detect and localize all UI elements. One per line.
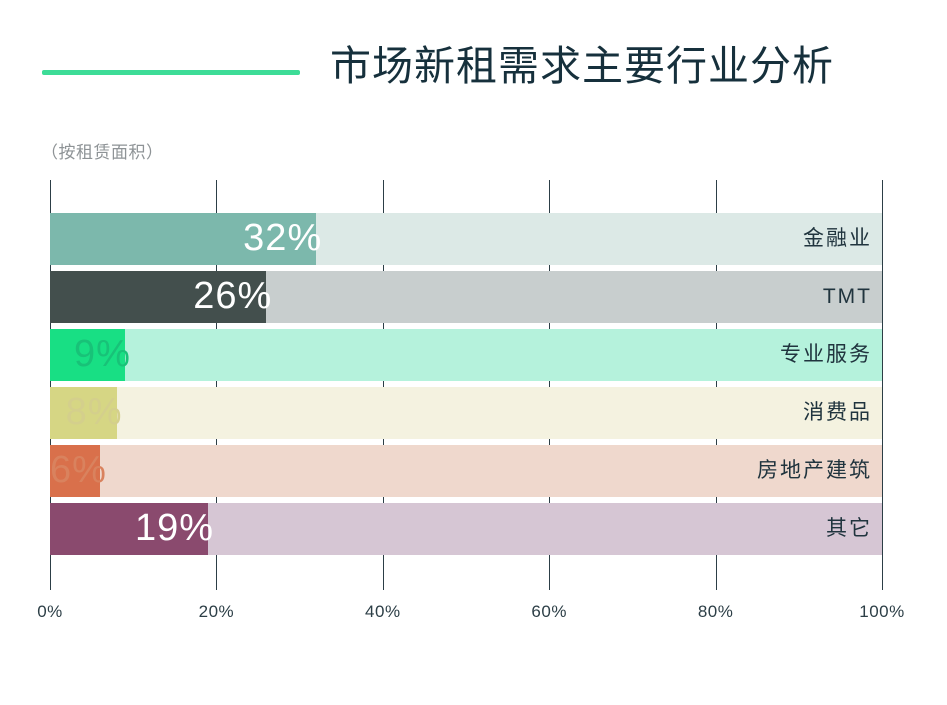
bar-row[interactable]: 19%其它 [50,503,882,555]
bar-row[interactable]: 6%房地产建筑 [50,445,882,497]
axis-tick-label: 80% [698,602,734,622]
bar-row[interactable]: 32%金融业 [50,213,882,265]
bar-value-label: 26% [50,271,272,323]
bar-row[interactable]: 26%TMT [50,271,882,323]
axis-tick-mark [50,576,51,590]
bar-category-label: 其它 [826,503,872,555]
axis-tick-mark [383,576,384,590]
bar-track [50,387,882,439]
bar-category-label: 专业服务 [780,329,872,381]
bar-value-label: 32% [50,213,322,265]
chart-header: 市场新租需求主要行业分析 （按租赁面积） [0,0,947,120]
bar-row[interactable]: 8%消费品 [50,387,882,439]
chart-subtitle: （按租赁面积） [41,138,164,163]
axis-tick-label: 0% [37,602,63,622]
page-title: 市场新租需求主要行业分析 [330,40,834,92]
bar-value-label: 19% [50,503,214,555]
gridline-100pct [882,180,883,576]
bar-value-label: 8% [50,387,123,439]
bar-rows: 32%金融业26%TMT9%专业服务8%消费品6%房地产建筑19%其它 [50,180,882,576]
axis-tick-mark [216,576,217,590]
x-axis: 0%20%40%60%80%100% [0,576,947,636]
axis-tick-mark [716,576,717,590]
title-accent-rule [42,70,300,75]
axis-tick-label: 60% [531,602,567,622]
axis-tick-mark [882,576,883,590]
bar-category-label: 消费品 [803,387,872,439]
bar-category-label: 房地产建筑 [757,445,872,497]
bar-value-label: 6% [50,445,106,497]
axis-tick-label: 20% [199,602,235,622]
bar-value-label: 9% [50,329,131,381]
bar-row[interactable]: 9%专业服务 [50,329,882,381]
axis-tick-mark [549,576,550,590]
bar-category-label: TMT [823,271,872,323]
bar-track [50,329,882,381]
chart-plot-area: 32%金融业26%TMT9%专业服务8%消费品6%房地产建筑19%其它 [50,180,882,576]
bar-category-label: 金融业 [803,213,872,265]
axis-tick-label: 40% [365,602,401,622]
axis-tick-label: 100% [859,602,904,622]
